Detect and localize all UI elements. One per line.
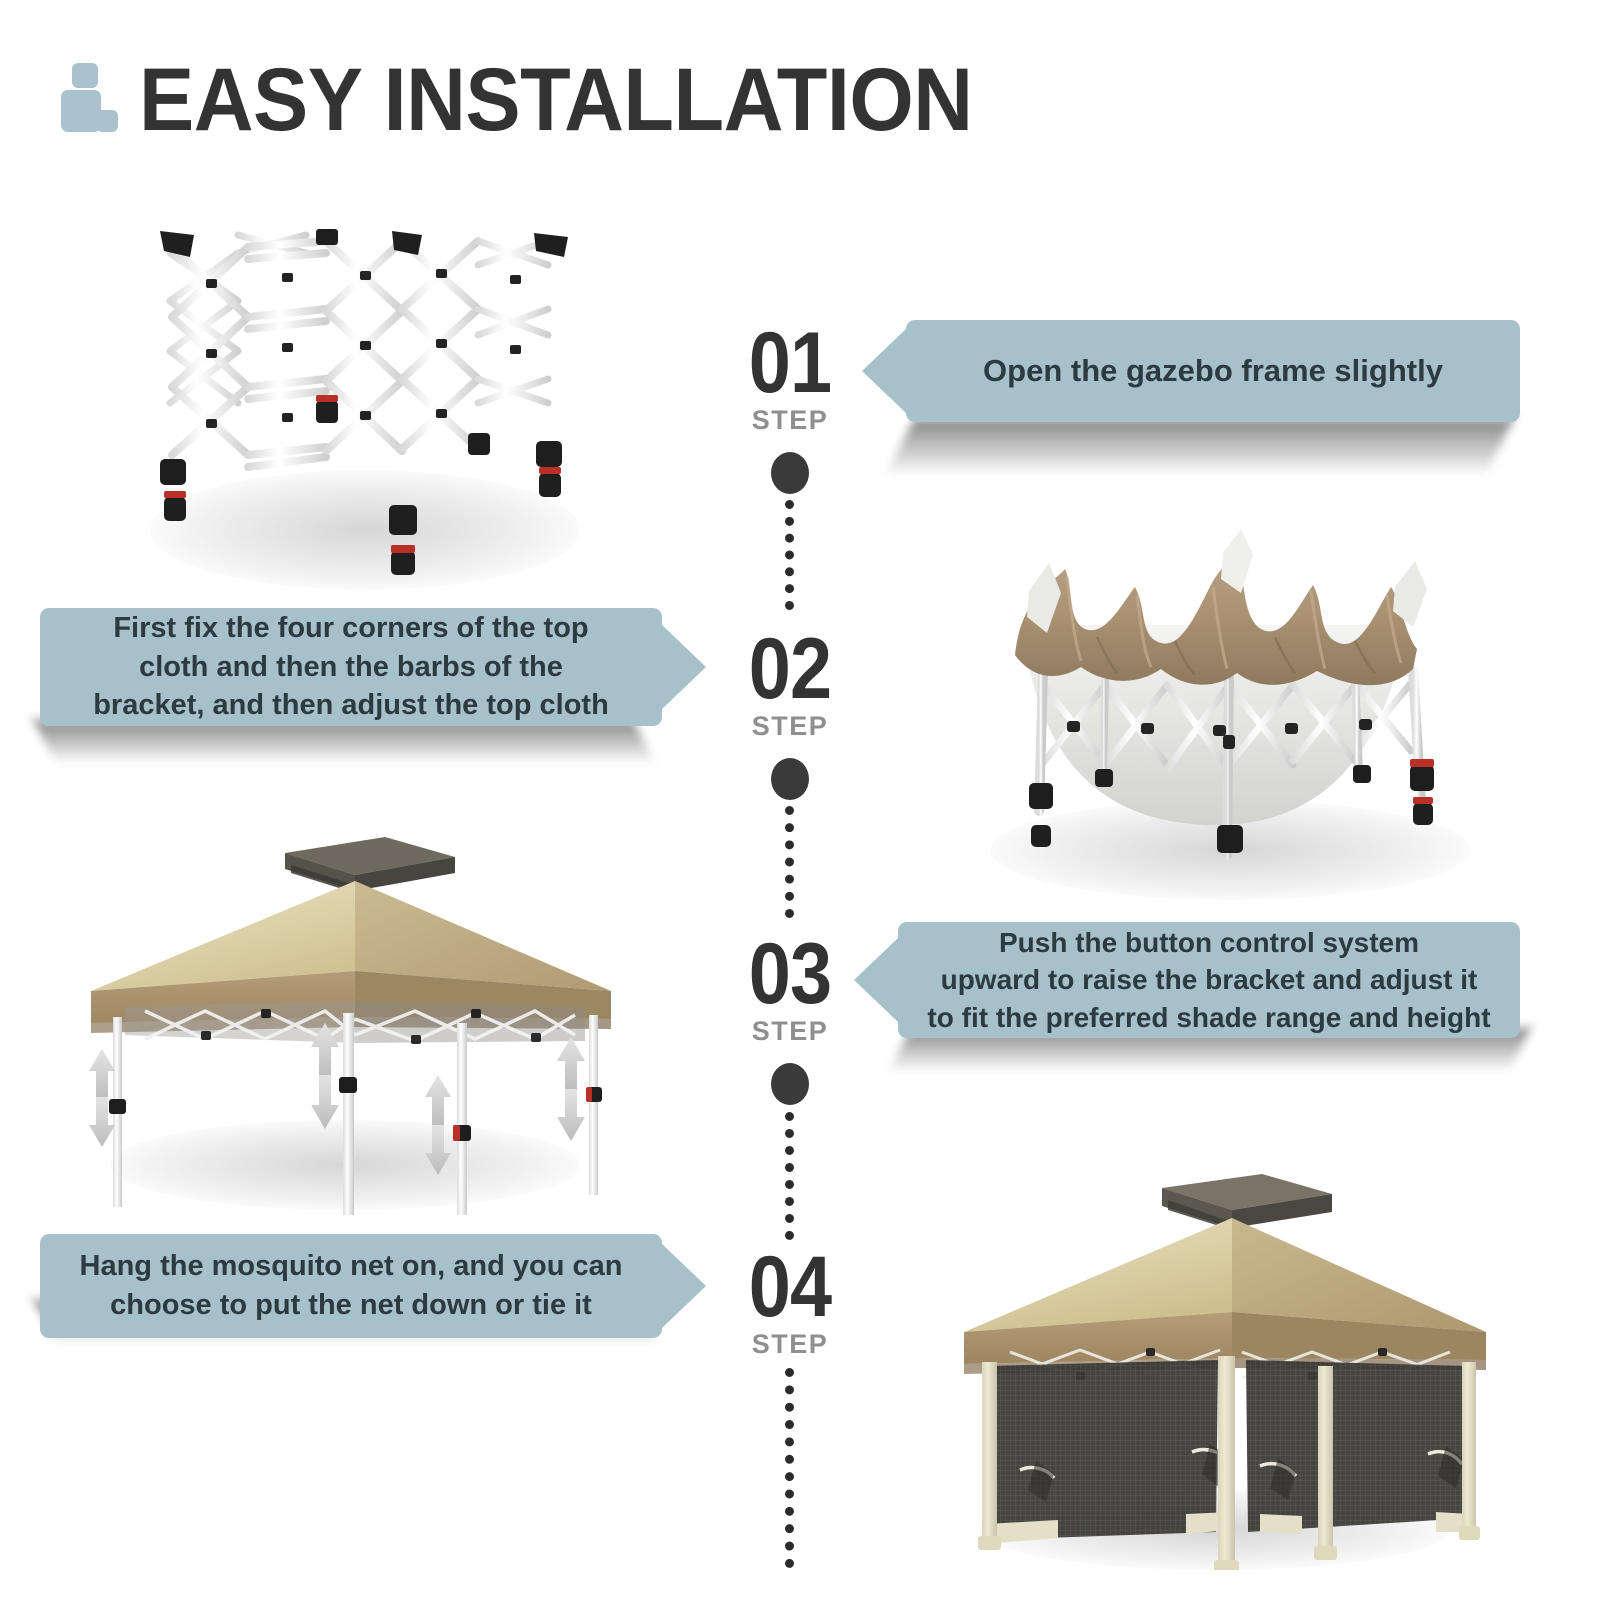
gazebo-raised-with-height-arrows-photo — [55, 795, 645, 1215]
callout-pointer-icon — [661, 624, 706, 710]
callout-pointer-icon — [854, 937, 899, 1023]
callout-text-line: Hang the mosquito net on, and you can — [80, 1247, 623, 1286]
timeline-dotted-connector — [785, 1112, 794, 1240]
step-marker-01: 01 STEP — [700, 324, 880, 494]
timeline-node-dot — [771, 758, 809, 800]
up-down-arrow-icon — [89, 1023, 585, 1175]
step-marker-02: 02 STEP — [700, 630, 880, 800]
callout-step-04: Hang the mosquito net on, and you can ch… — [40, 1234, 662, 1338]
step-word: STEP — [700, 711, 880, 742]
step-number: 03 — [711, 935, 869, 1014]
callout-text-line: cloth and then the barbs of the — [93, 648, 609, 687]
callout-text-line: upward to raise the bracket and adjust i… — [927, 961, 1490, 998]
callout-step-01: Open the gazebo frame slightly — [906, 320, 1520, 422]
callout-text: Open the gazebo frame slightly — [957, 350, 1469, 391]
callout-shadow — [33, 720, 654, 764]
gazebo-frame-partially-open-photo — [130, 205, 600, 575]
step-number: 04 — [711, 1248, 869, 1327]
page-title: EASY INSTALLATION — [139, 61, 973, 138]
callout-step-02: First fix the four corners of the top cl… — [40, 608, 662, 726]
bar-chart-blocks-icon — [55, 52, 117, 138]
timeline-dotted-connector — [785, 500, 794, 610]
canopy-cloth-draped-on-frame-photo — [955, 525, 1505, 875]
callout-pointer-icon — [661, 1243, 706, 1329]
callout-step-03: Push the button control system upward to… — [898, 922, 1520, 1038]
callout-pointer-icon — [862, 328, 907, 414]
easy-installation-infographic: EASY INSTALLATION 01 STEP 02 STEP 03 STE… — [0, 0, 1620, 1620]
step-word: STEP — [700, 1016, 880, 1047]
step-marker-03: 03 STEP — [700, 935, 880, 1105]
timeline-node-dot — [771, 452, 809, 494]
step-word: STEP — [700, 1329, 880, 1360]
gazebo-with-mosquito-net-photo — [930, 1140, 1520, 1570]
timeline-dotted-connector-end — [785, 1368, 794, 1568]
timeline-dotted-connector — [785, 806, 794, 918]
callout-text-line: Push the button control system — [927, 924, 1490, 961]
step-word: STEP — [700, 405, 880, 436]
callout-text-line: First fix the four corners of the top — [93, 609, 609, 648]
step-number: 01 — [711, 324, 869, 403]
callout-text-line: bracket, and then adjust the top cloth — [93, 686, 609, 725]
callout-shadow — [886, 418, 1514, 476]
callout-text-line: choose to put the net down or tie it — [80, 1286, 623, 1325]
page-header: EASY INSTALLATION — [55, 52, 1035, 138]
step-marker-04: 04 STEP — [700, 1248, 880, 1360]
step-number: 02 — [711, 630, 869, 709]
timeline-node-dot — [771, 1063, 809, 1105]
callout-text-line: to fit the preferred shade range and hei… — [927, 999, 1490, 1036]
